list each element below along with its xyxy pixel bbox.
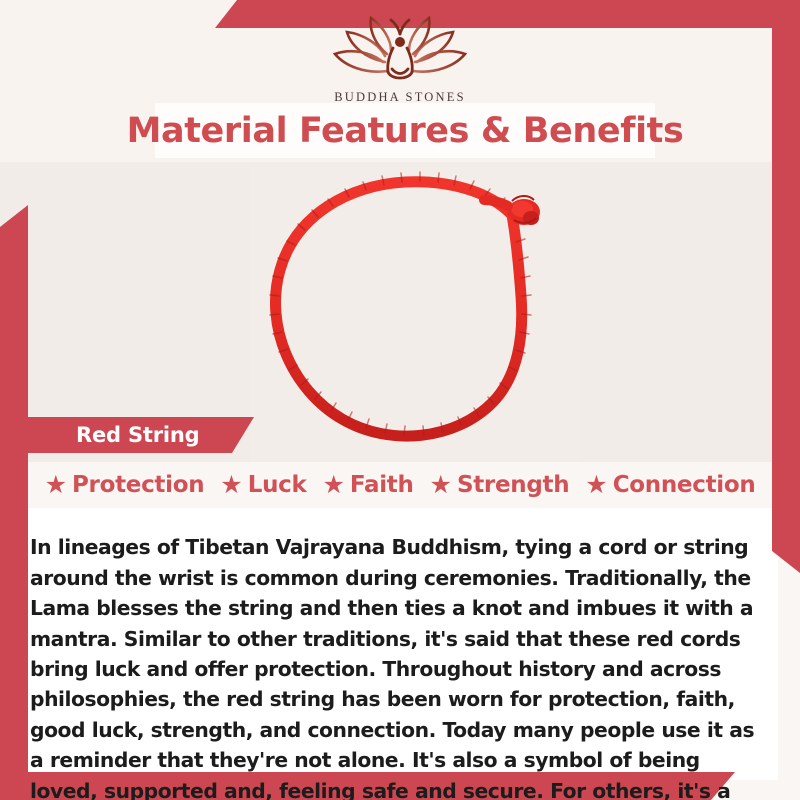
benefit-item-faith: ★ Faith bbox=[322, 472, 413, 498]
benefit-item-strength: ★ Strength bbox=[430, 472, 570, 498]
product-label: Red String bbox=[76, 423, 199, 447]
benefit-label: Faith bbox=[350, 472, 414, 498]
star-icon: ★ bbox=[45, 473, 67, 498]
benefit-label: Luck bbox=[248, 472, 307, 498]
benefit-item-luck: ★ Luck bbox=[220, 472, 306, 498]
benefit-label: Protection bbox=[72, 472, 204, 498]
lotus-meditation-icon bbox=[325, 14, 475, 88]
material-features-poster: BUDDHA STONES Material Features & Benefi… bbox=[0, 0, 800, 800]
page-title-banner: Material Features & Benefits bbox=[155, 103, 655, 158]
product-label-banner: Red String bbox=[28, 417, 254, 453]
benefit-label: Connection bbox=[613, 472, 756, 498]
star-icon: ★ bbox=[220, 473, 242, 498]
product-image-red-string-bracelet bbox=[250, 168, 580, 462]
brand-logo: BUDDHA STONES bbox=[0, 14, 800, 105]
description-text: In lineages of Tibetan Vajrayana Buddhis… bbox=[30, 532, 772, 800]
benefit-label: Strength bbox=[457, 472, 569, 498]
star-icon: ★ bbox=[585, 473, 607, 498]
star-icon: ★ bbox=[430, 473, 452, 498]
benefit-item-connection: ★ Connection bbox=[585, 472, 755, 498]
benefits-list: ★ Protection ★ Luck ★ Faith ★ Strength ★… bbox=[22, 466, 778, 504]
star-icon: ★ bbox=[322, 473, 344, 498]
benefit-item-protection: ★ Protection bbox=[45, 472, 205, 498]
page-title: Material Features & Benefits bbox=[127, 111, 684, 151]
